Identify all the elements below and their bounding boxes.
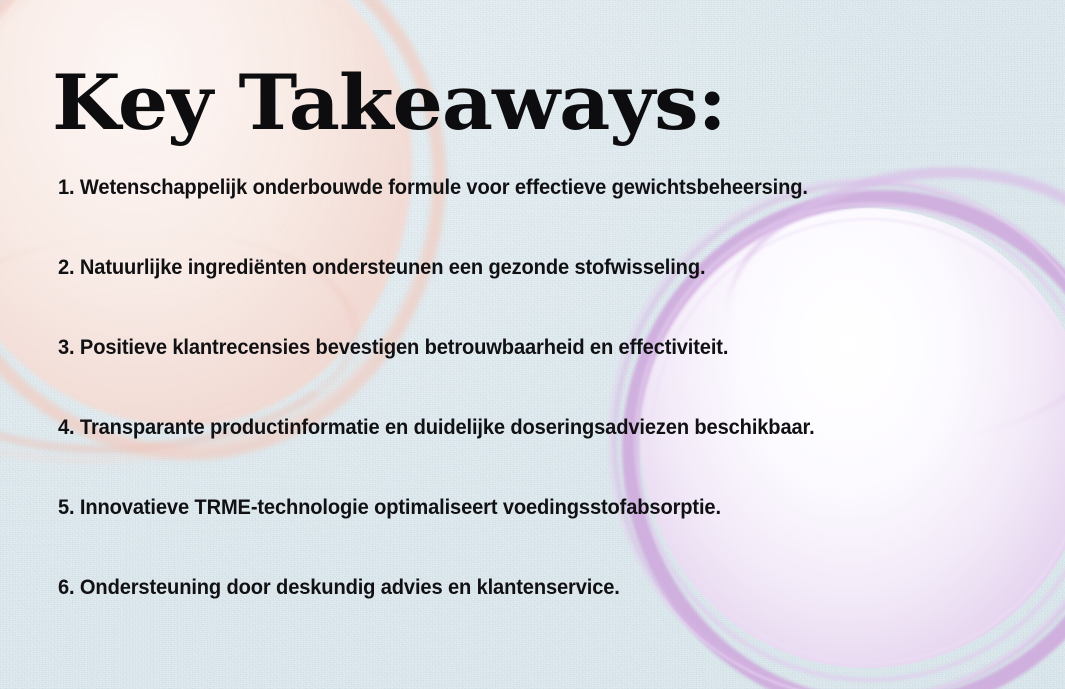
takeaway-text: 2. Natuurlijke ingrediënten ondersteunen… xyxy=(58,256,705,280)
page-title: Key Takeaways: xyxy=(52,65,726,141)
list-item: 3. Positieve klantrecensies bevestigen b… xyxy=(0,308,1065,388)
key-takeaways-slide: Key Takeaways: 1. Wetenschappelijk onder… xyxy=(0,0,1065,689)
takeaways-list: 1. Wetenschappelijk onderbouwde formule … xyxy=(0,148,1065,628)
takeaway-text: 5. Innovatieve TRME-technologie optimali… xyxy=(58,496,721,520)
list-item: 5. Innovatieve TRME-technologie optimali… xyxy=(0,468,1065,548)
list-item: 6. Ondersteuning door deskundig advies e… xyxy=(0,548,1065,628)
takeaway-text: 3. Positieve klantrecensies bevestigen b… xyxy=(58,336,728,360)
list-item: 1. Wetenschappelijk onderbouwde formule … xyxy=(0,148,1065,228)
takeaway-text: 4. Transparante productinformatie en dui… xyxy=(58,416,815,440)
list-item: 2. Natuurlijke ingrediënten ondersteunen… xyxy=(0,228,1065,308)
list-item: 4. Transparante productinformatie en dui… xyxy=(0,388,1065,468)
slide-content: Key Takeaways: 1. Wetenschappelijk onder… xyxy=(0,0,1065,689)
takeaway-text: 6. Ondersteuning door deskundig advies e… xyxy=(58,576,620,600)
takeaway-text: 1. Wetenschappelijk onderbouwde formule … xyxy=(58,176,808,200)
